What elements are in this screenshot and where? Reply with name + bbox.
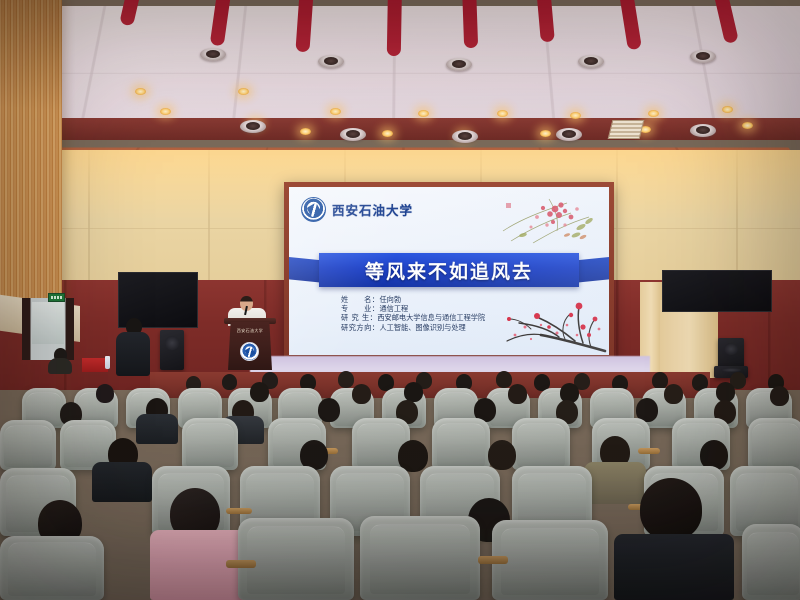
exit-sign-icon — [48, 293, 65, 302]
standing-person-torso — [116, 332, 150, 376]
university-name: 西安石油大学 — [332, 200, 413, 219]
seated-person-torso — [48, 358, 72, 374]
presentation-slide[interactable]: 西安石油大学 等风来不如追风去 姓 名：任向勃 专 业：通信工程 研 究 生：西… — [289, 187, 609, 355]
auditorium-photo: 西安石油大学 等风来不如追风去 姓 名：任向勃 专 业：通信工程 研 究 生：西… — [0, 0, 800, 600]
meta-value: 西安邮电大学信息与通信工程学院 — [377, 313, 485, 322]
university-emblem-icon-podium — [240, 342, 259, 361]
meta-value: 人工智能、图像识别与处理 — [379, 323, 465, 332]
meta-value: 任向勃 — [379, 295, 401, 304]
watercolor-blossom-top-right — [493, 191, 603, 253]
air-vent-icon — [608, 120, 645, 139]
university-emblem-icon — [301, 197, 326, 222]
podium-front-text: 西安石油大学 — [232, 328, 268, 334]
wood-slat-shading — [0, 0, 62, 326]
slide-title-banner: 等风来不如追风去 — [289, 253, 609, 287]
meta-label: 研 究 生： — [341, 313, 377, 322]
floor-speaker-icon-left — [160, 330, 184, 370]
banner-main: 等风来不如追风去 — [319, 253, 579, 287]
meta-row: 研 究 生：西安邮电大学信息与通信工程学院 — [341, 313, 485, 322]
meta-row: 姓 名：任向勃 — [341, 295, 485, 304]
meta-value: 通信工程 — [379, 304, 408, 313]
meta-row: 研究方向：人工智能、图像识别与处理 — [341, 323, 485, 332]
door-window — [32, 302, 64, 344]
meta-label: 专 业： — [341, 304, 379, 313]
wall-display-icon-right — [662, 270, 772, 312]
projection-screen-frame: 西安石油大学 等风来不如追风去 姓 名：任向勃 专 业：通信工程 研 究 生：西… — [284, 182, 614, 360]
slide-logo-row: 西安石油大学 — [301, 197, 413, 222]
slide-meta-block: 姓 名：任向勃 专 业：通信工程 研 究 生：西安邮电大学信息与通信工程学院 研… — [341, 295, 485, 332]
water-bottle — [105, 356, 110, 369]
meta-label: 研究方向： — [341, 323, 379, 332]
meta-row: 专 业：通信工程 — [341, 304, 485, 313]
slide-title: 等风来不如追风去 — [365, 257, 533, 284]
plum-branch-bottom-right — [479, 289, 607, 355]
ceiling-soffit-band — [0, 118, 800, 140]
meta-label: 姓 名： — [341, 295, 379, 304]
